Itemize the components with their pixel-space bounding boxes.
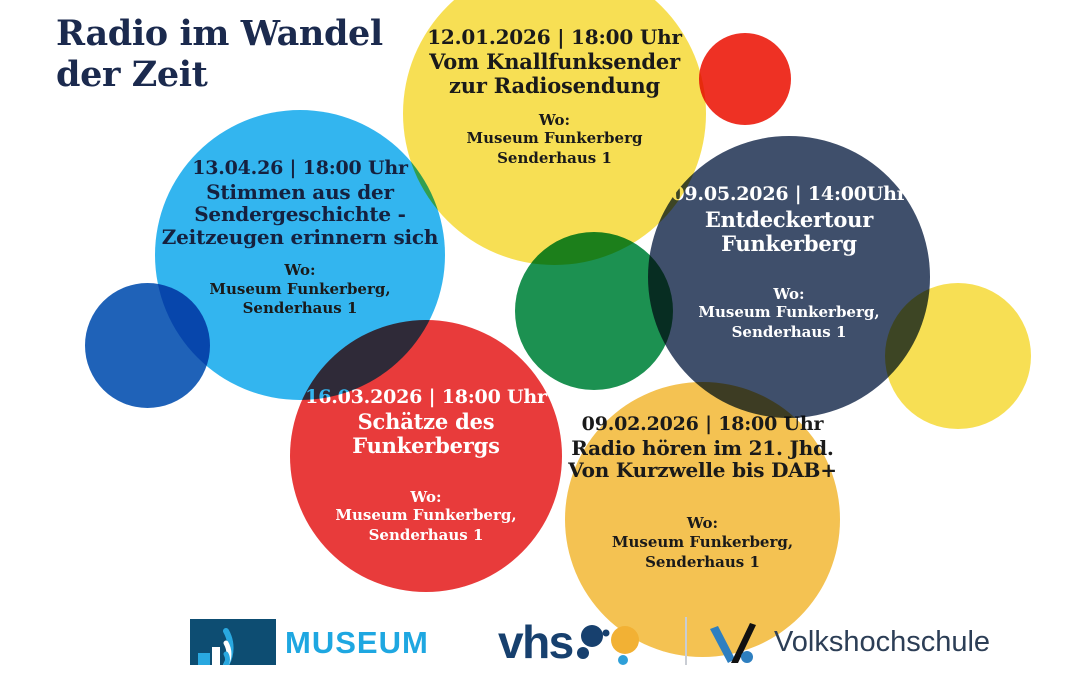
logo-museum[interactable]: MUSEUM [190,619,429,665]
event-wo-label-entdeckertour: Wo: [773,285,804,304]
event-heading-schaetze: Schätze des Funkerbergs [290,410,562,458]
event-venue-line2-stimmen: Senderhaus 1 [243,299,358,319]
logo-museum-label: MUSEUM [285,627,429,658]
event-date-dabplus: 09.02.2026 | 18:00 Uhr [582,414,824,436]
event-date-schaetze: 16.03.2026 | 18:00 Uhr [305,387,547,409]
page-title: Radio im Wandel der Zeit [56,14,446,96]
event-date-knallfunksender: 12.01.2026 | 18:00 Uhr [427,26,682,49]
event-venue-line1-entdeckertour: Museum Funkerberg, [698,303,879,323]
event-heading-dabplus: Radio hören im 21. Jhd. Von Kurzwelle bi… [568,437,837,483]
event-date-entdeckertour: 09.05.2026 | 14:00Uhr [671,184,906,206]
event-venue-line1-knallfunksender: Museum Funkerberg [467,129,643,149]
event-venue-line2-schaetze: Senderhaus 1 [369,526,484,546]
event-venue-line1-schaetze: Museum Funkerberg, [335,506,516,526]
event-wo-label-dabplus: Wo: [687,514,718,533]
logo-bar: MUSEUM vhs [0,595,1080,675]
vhs-v-mark-icon [706,619,764,665]
event-venue-line1-dabplus: Museum Funkerberg, [612,533,793,553]
event-venue-line2-knallfunksender: Senderhaus 1 [497,149,612,169]
event-heading-stimmen: Stimmen aus der Sendergeschichte - Zeitz… [162,181,438,249]
logo-volkshochschule-label: Volkshochschule [774,628,990,657]
event-wo-label-schaetze: Wo: [410,488,441,507]
event-heading-knallfunksender: Vom Knallfunksender zur Radiosendung [429,50,680,98]
event-wo-label-knallfunksender: Wo: [539,111,570,130]
event-wo-label-stimmen: Wo: [284,261,315,280]
logo-vhs[interactable]: vhs [498,619,641,665]
event-venue-line2-dabplus: Senderhaus 1 [645,553,760,573]
event-date-stimmen: 13.04.26 | 18:00 Uhr [192,158,408,180]
poster-canvas: 09.05.2026 | 14:00Uhr Entdeckertour Funk… [0,0,1080,675]
vhs-dots-icon [575,619,641,665]
event-venue-line1-stimmen: Museum Funkerberg, [209,280,390,300]
logo-vhs-label: vhs [498,624,573,661]
event-circle-schaetze[interactable]: 16.03.2026 | 18:00 Uhr Schätze des Funke… [290,320,562,592]
event-venue-line2-entdeckertour: Senderhaus 1 [732,323,847,343]
decor-circle-red-small-top [699,33,791,125]
logo-volkshochschule[interactable]: Volkshochschule [706,619,990,665]
radio-wave-icon [190,619,276,665]
event-heading-entdeckertour: Entdeckertour Funkerberg [705,208,873,256]
logo-divider [685,617,687,665]
